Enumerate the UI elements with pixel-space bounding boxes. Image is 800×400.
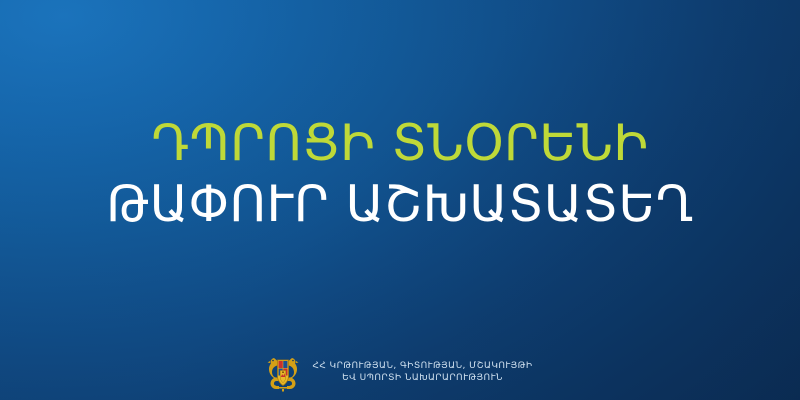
headline-line-2: ԹԱՓՈՒՐ ԱՇԽԱՏԱՏԵՂ (0, 179, 800, 230)
headline-block: ԴՊՐՈՑԻ ՏՆՕՐԵՆԻ ԹԱՓՈՒՐ ԱՇԽԱՏԱՏԵՂ (0, 118, 800, 230)
ministry-footer: ՀՀ ԿՐԹՈՒԹՅԱՆ, ԳԻՏՈՒԹՅԱՆ, ՄՇԱԿՈՒՅԹԻ ԵՎ ՍՊ… (0, 354, 800, 392)
ministry-name-line-1: ՀՀ ԿՐԹՈՒԹՅԱՆ, ԳԻՏՈՒԹՅԱՆ, ՄՇԱԿՈՒՅԹԻ (312, 361, 532, 373)
ministry-name: ՀՀ ԿՐԹՈՒԹՅԱՆ, ԳԻՏՈՒԹՅԱՆ, ՄՇԱԿՈՒՅԹԻ ԵՎ ՍՊ… (312, 361, 532, 385)
ministry-name-line-2: ԵՎ ՍՊՈՐՏԻ ՆԱԽԱՐԱՐՈՒԹՅՈՒՆ (342, 373, 503, 385)
armenia-coat-of-arms-icon (267, 354, 299, 392)
headline-line-1: ԴՊՐՈՑԻ ՏՆՕՐԵՆԻ (0, 118, 800, 169)
announcement-banner: ԴՊՐՈՑԻ ՏՆՕՐԵՆԻ ԹԱՓՈՒՐ ԱՇԽԱՏԱՏԵՂ (0, 0, 800, 400)
